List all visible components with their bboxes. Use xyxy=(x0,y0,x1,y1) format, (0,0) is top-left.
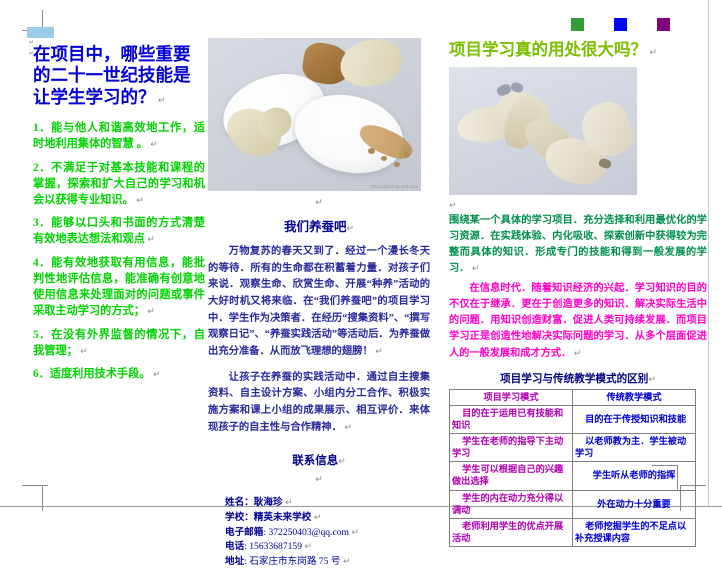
photo-caption: 我们养蚕吧↵ xyxy=(208,216,430,235)
pilcrow-icon: ↵ xyxy=(338,456,346,466)
pilcrow-icon: ↵ xyxy=(469,263,479,273)
pilcrow-icon: ↵ xyxy=(315,197,323,207)
caption-text: 我们养蚕吧 xyxy=(284,220,347,234)
pilcrow-icon: ↵ xyxy=(145,306,155,316)
skill-item-5: 5．在没有外界监督的情况下，自我管理； ↵ xyxy=(33,327,205,359)
right-paragraph-green: 围绕某一个具体的学习项目．充分选择和利用最优化的学习资源．在实践体验、内化吸收、… xyxy=(449,213,707,277)
contact-label: 姓名： xyxy=(225,497,254,508)
contact-row-phone: 电话: 15633687159 ↵ xyxy=(225,540,430,555)
contact-value: 耿海珍 xyxy=(254,497,283,508)
contact-value: : 372250403@qq.com xyxy=(263,527,349,538)
document-page: ↵ ↵ 在项目中，哪些重要的二十一世纪技能是让学生学习的？ ↵ 1．能与他人和谐… xyxy=(0,0,722,515)
pilcrow-icon: ↵ xyxy=(134,195,144,205)
right-column-heading: 项目学习真的用处很大吗？ ↵ xyxy=(449,40,707,61)
pilcrow-icon: ↵ xyxy=(571,348,581,358)
contact-row-name: 姓名：耿海珍 ↵ xyxy=(225,496,430,511)
pilcrow-icon: ↵ xyxy=(340,556,350,566)
contact-label: 电话 xyxy=(225,541,244,552)
contact-value: 精英未来学校 xyxy=(254,512,312,523)
left-heading-text: 在项目中，哪些重要的二十一世纪技能是让学生学习的？ xyxy=(33,44,191,107)
pilcrow-icon: ↵ xyxy=(449,200,457,210)
paragraph-text: 围绕某一个具体的学习项目．充分选择和利用最优化的学习资源．在实践体验、内化吸收、… xyxy=(449,215,707,274)
comparison-table: 项目学习模式 传统教学模式 目的在于运用已有技能和知识 目的在于传授知识和技能 … xyxy=(449,389,696,548)
pilcrow-icon: ↵ xyxy=(311,512,321,522)
skill-item-1: 1．能与他人和谐高效地工作，适时地利用集体的智慧 。 ↵ xyxy=(33,120,205,152)
middle-paragraph-1: 万物复苏的春天又到了．经过一个漫长冬天的等待．所有的生命都在积蓄着力量．对孩子们… xyxy=(208,244,430,361)
right-column: 项目学习真的用处很大吗？ ↵ ↵ 围绕某一个具体的学习项目．充分选择和利用最优化… xyxy=(449,40,707,547)
table-cell-traditional: 老师挖掘学生的不足点以补充授课内容 xyxy=(573,518,696,546)
swatch-green[interactable] xyxy=(571,18,584,31)
silkworm-moths-photo xyxy=(449,67,637,195)
skill-item-6: 6．适度利用技术手段。 ↵ xyxy=(33,366,205,382)
contact-label: 学校： xyxy=(225,512,254,523)
page-right-edge xyxy=(708,0,709,507)
pilcrow-icon: ↵ xyxy=(156,95,166,105)
table-cell-project: 学生的内在动力充分得以调动 xyxy=(450,490,573,518)
contact-info-list: 姓名：耿海珍 ↵ 学校：精英未来学校 ↵ 电子邮箱: 372250403@qq.… xyxy=(225,496,430,569)
skill-item-3: 3．能够以口头和书面的方式清楚有效地表达想法和观点 ↵ xyxy=(33,215,205,247)
swatch-blue[interactable] xyxy=(614,18,627,31)
pilcrow-icon: ↵ xyxy=(150,369,160,379)
contact-info-title: 联系信息↵ xyxy=(208,452,430,468)
table-cell-project: 目的在于运用已有技能和知识 xyxy=(450,405,573,433)
table-header-cell: 传统教学模式 xyxy=(573,389,696,405)
table-row: 学生在老师的指导下主动学习 以老师教为主．学生被动学习 xyxy=(450,434,696,462)
pilcrow-icon: ↵ xyxy=(283,497,293,507)
skill-item-4: 4．能有效地获取有用信息，能批判性地评估信息，能准确有创意地使用信息来处理面对的… xyxy=(33,255,205,320)
pilcrow-icon: ↵ xyxy=(342,422,352,432)
silkworm-cocoons-photo: yhan0803.img.163.com xyxy=(208,38,421,191)
table-row: 学生可以根据自己的兴趣做出选择 学生听从老师的指挥 xyxy=(450,462,696,490)
pilcrow-icon: ↵ xyxy=(302,541,312,551)
swatch-purple[interactable] xyxy=(657,18,670,31)
table-cell-traditional: 外在动力十分重要 xyxy=(573,490,696,518)
contact-title-text: 联系信息 xyxy=(292,455,338,467)
paragraph-text: 让孩子在养蚕的实践活动中．通过自主搜集资料、自主设计方案、小组内分工合作、积极实… xyxy=(208,372,430,433)
text-selection-highlight[interactable] xyxy=(27,27,54,38)
table-header-cell: 项目学习模式 xyxy=(450,389,573,405)
left-column: 在项目中，哪些重要的二十一世纪技能是让学生学习的？ ↵ 1．能与他人和谐高效地工… xyxy=(33,44,205,389)
pilcrow-icon: ↵ xyxy=(648,374,656,384)
pilcrow-icon: ↵ xyxy=(145,234,155,244)
pilcrow-icon: ↵ xyxy=(349,527,359,537)
table-row: 老师利用学生的优点开展活动 老师挖掘学生的不足点以补充授课内容 xyxy=(450,518,696,546)
contact-row-email: 电子邮箱: 372250403@qq.com ↵ xyxy=(225,526,430,541)
left-column-heading: 在项目中，哪些重要的二十一世纪技能是让学生学习的？ ↵ xyxy=(33,44,205,108)
paragraph-text: 万物复苏的春天又到了．经过一个漫长冬天的等待．所有的生命都在积蓄着力量．对孩子们… xyxy=(208,246,430,357)
skill-item-2: 2．不满足于对基本技能和课程的掌握，探索和扩大自己的学习和机会以获得专业知识。 … xyxy=(33,160,205,209)
skill-text: 2．不满足于对基本技能和课程的掌握，探索和扩大自己的学习和机会以获得专业知识。 xyxy=(33,162,205,206)
middle-paragraph-2: 让孩子在养蚕的实践活动中．通过自主搜集资料、自主设计方案、小组内分工合作、积极实… xyxy=(208,370,430,437)
contact-row-school: 学校：精英未来学校 ↵ xyxy=(225,511,430,526)
crop-mark-bottom-left xyxy=(22,476,52,506)
table-cell-project: 老师利用学生的优点开展活动 xyxy=(450,518,573,546)
skill-text: 3．能够以口头和书面的方式清楚有效地表达想法和观点 xyxy=(33,217,205,245)
pilcrow-icon: ↵ xyxy=(346,223,354,233)
pilcrow-icon: ↵ xyxy=(78,346,88,356)
skill-text: 6．适度利用技术手段。 xyxy=(33,368,150,380)
table-cell-project: 学生可以根据自己的兴趣做出选择 xyxy=(450,462,573,490)
table-cell-traditional: 以老师教为主．学生被动学习 xyxy=(573,434,696,462)
right-paragraph-pink: 在信息时代．随着知识经济的兴起．学习知识的目的不仅在于继承．更在于创造更多的知识… xyxy=(449,281,707,362)
skill-text: 4．能有效地获取有用信息，能批判性地评估信息，能准确有创意地使用信息来处理面对的… xyxy=(33,257,205,318)
table-cell-traditional: 目的在于传授知识和技能 xyxy=(573,405,696,433)
contact-label: 地址 xyxy=(225,556,244,567)
table-row: 学生的内在动力充分得以调动 外在动力十分重要 xyxy=(450,490,696,518)
color-swatch-row xyxy=(571,18,670,31)
table-cell-project: 学生在老师的指导下主动学习 xyxy=(450,434,573,462)
contact-row-address: 地址: 石家庄市东岗路 75 号 ↵ xyxy=(225,555,430,569)
middle-column: yhan0803.img.163.com ↵ 我们养蚕吧↵ 万物复苏的春天又到了… xyxy=(208,38,430,569)
photo-watermark: yhan0803.img.163.com xyxy=(371,184,418,189)
skill-text: 5．在没有外界监督的情况下，自我管理； xyxy=(33,329,205,357)
table-row: 目的在于运用已有技能和知识 目的在于传授知识和技能 xyxy=(450,405,696,433)
pilcrow-icon: ↵ xyxy=(373,346,383,356)
skill-text: 1．能与他人和谐高效地工作，适时地利用集体的智慧 。 xyxy=(33,122,205,150)
table-cell-traditional: 学生听从老师的指挥 xyxy=(573,462,696,490)
contact-label: 电子邮箱 xyxy=(225,527,263,538)
contact-value: : 石家庄市东岗路 75 号 xyxy=(244,556,340,567)
table-header-row: 项目学习模式 传统教学模式 xyxy=(450,389,696,405)
contact-value: : 15633687159 xyxy=(244,541,302,552)
pilcrow-icon: ↵ xyxy=(315,474,323,484)
table-title-text: 项目学习与传统教学模式的区别 xyxy=(500,374,648,385)
pilcrow-icon: ↵ xyxy=(148,139,158,149)
comparison-table-title: 项目学习与传统教学模式的区别↵ xyxy=(449,371,707,386)
pilcrow-icon: ↵ xyxy=(647,47,657,57)
right-heading-text: 项目学习真的用处很大吗？ xyxy=(449,40,647,59)
